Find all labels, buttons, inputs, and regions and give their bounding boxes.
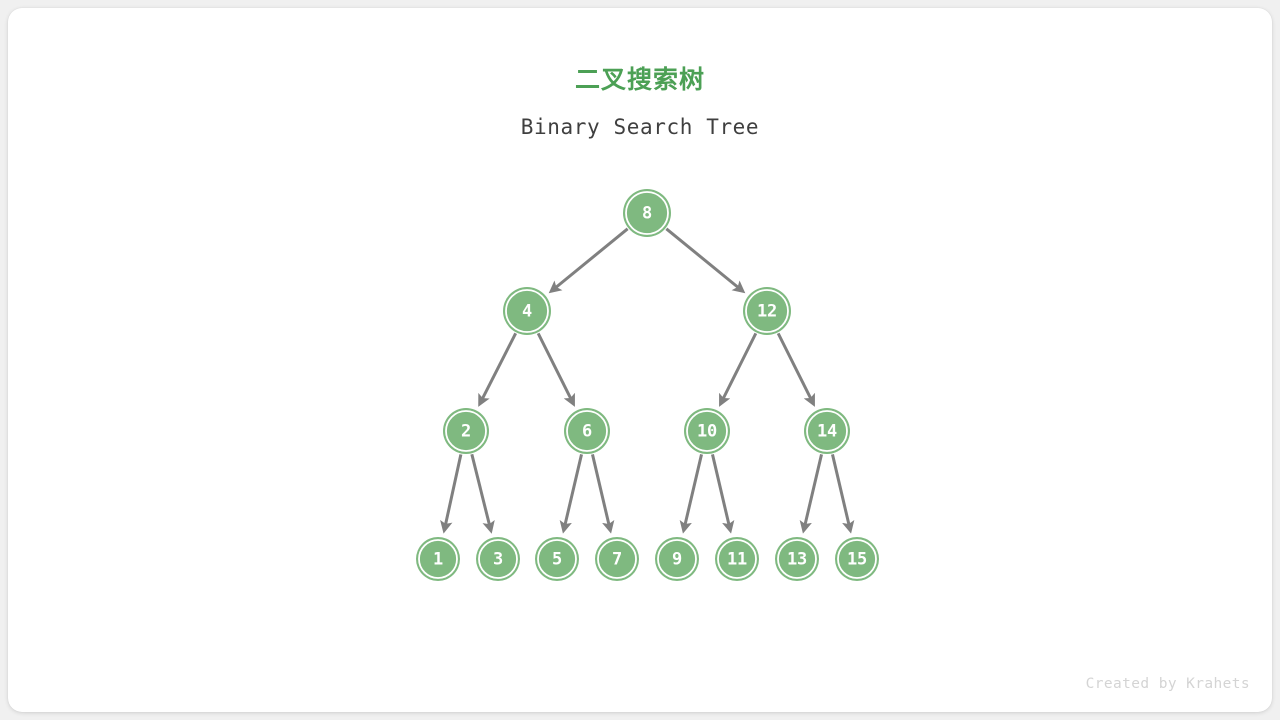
tree-node[interactable]: 14 [804, 408, 850, 454]
tree-node[interactable]: 3 [476, 537, 520, 581]
tree-edge [684, 454, 701, 527]
tree-edge [445, 454, 461, 527]
tree-node-label: 4 [522, 302, 532, 322]
tree-node[interactable]: 13 [775, 537, 819, 581]
tree-node-label: 5 [552, 550, 562, 570]
tree-node[interactable]: 12 [743, 287, 791, 335]
tree-node[interactable]: 6 [564, 408, 610, 454]
tree-node-label: 1 [433, 550, 443, 570]
tree-node-label: 14 [817, 422, 837, 442]
tree-edge [472, 454, 490, 528]
tree-node-label: 2 [461, 422, 471, 442]
binary-search-tree-diagram: 841226101413579111315 [8, 8, 1272, 712]
tree-node-label: 12 [757, 302, 777, 322]
tree-node-label: 13 [787, 550, 807, 570]
tree-node[interactable]: 4 [503, 287, 551, 335]
tree-node[interactable]: 9 [655, 537, 699, 581]
edge-layer [445, 229, 850, 528]
tree-node[interactable]: 1 [416, 537, 460, 581]
tree-node-label: 8 [642, 204, 652, 224]
tree-node-label: 11 [727, 550, 747, 570]
node-layer: 841226101413579111315 [416, 189, 879, 581]
tree-edge [804, 454, 821, 527]
tree-node[interactable]: 15 [835, 537, 879, 581]
tree-node-label: 6 [582, 422, 592, 442]
tree-edge [592, 454, 609, 527]
tree-edge [553, 229, 627, 290]
tree-node[interactable]: 8 [623, 189, 671, 237]
tree-edge [538, 333, 572, 401]
tree-edge [832, 454, 849, 527]
page-root: 二叉搜索树 Binary Search Tree 841226101413579… [0, 0, 1280, 720]
tree-node[interactable]: 2 [443, 408, 489, 454]
tree-edge [481, 333, 516, 401]
credit-text: Created by Krahets [1086, 676, 1250, 692]
diagram-card: 二叉搜索树 Binary Search Tree 841226101413579… [8, 8, 1272, 712]
tree-node[interactable]: 10 [684, 408, 730, 454]
tree-node-label: 10 [697, 422, 717, 442]
tree-edge [666, 229, 740, 290]
tree-node[interactable]: 11 [715, 537, 759, 581]
tree-edge [712, 454, 729, 527]
tree-node[interactable]: 5 [535, 537, 579, 581]
tree-node-label: 9 [672, 550, 682, 570]
tree-node[interactable]: 7 [595, 537, 639, 581]
tree-node-label: 15 [847, 550, 867, 570]
tree-node-label: 7 [612, 550, 622, 570]
tree-edge [778, 333, 812, 401]
tree-edge [722, 333, 756, 401]
tree-edge [564, 454, 581, 527]
tree-node-label: 3 [493, 550, 503, 570]
